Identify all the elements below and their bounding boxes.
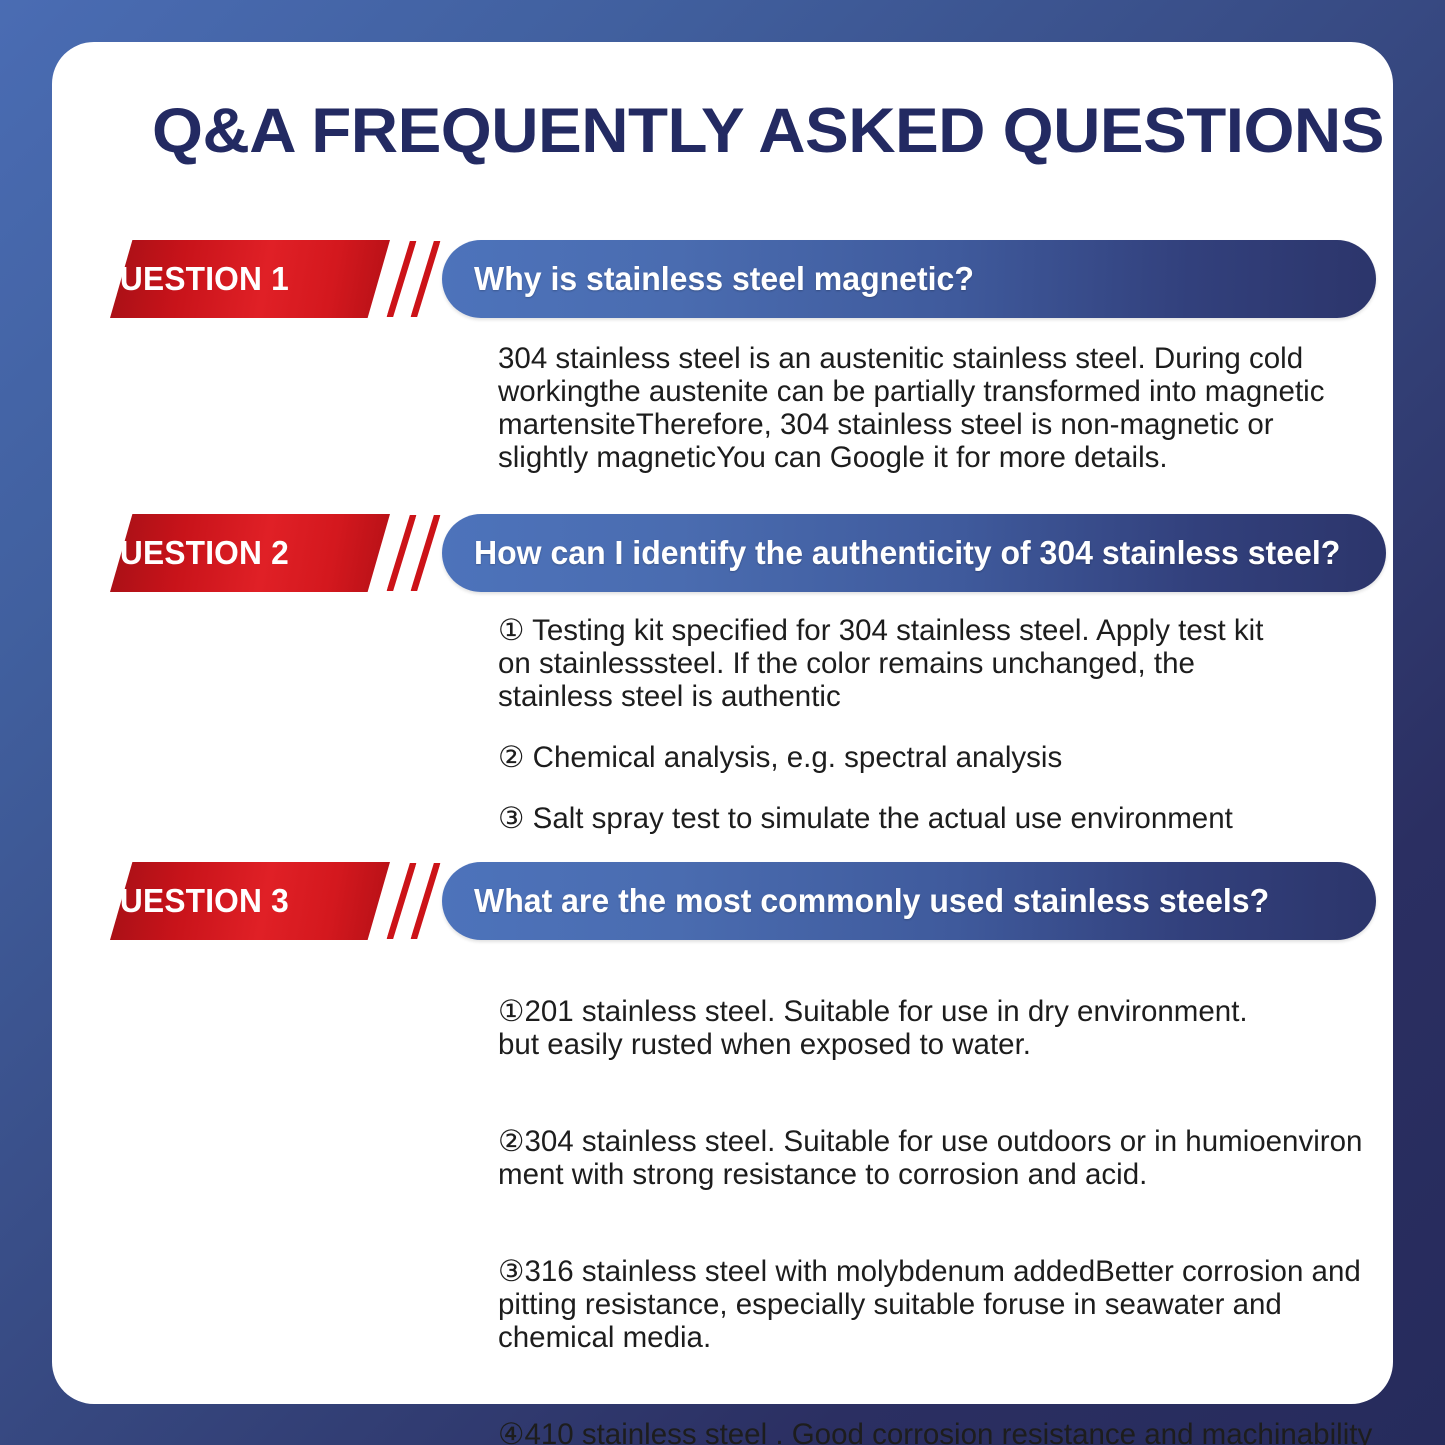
answer-paragraph: ①201 stainless steel. Suitable for use i…	[498, 995, 1378, 1061]
answer-2: ① Testing kit specified for 304 stainles…	[498, 614, 1298, 835]
question-text-2: How can I identify the authenticity of 3…	[474, 514, 1340, 592]
question-header-2: QUESTION 2 How can I identify the authen…	[52, 514, 1393, 592]
answer-paragraph: ② Chemical analysis, e.g. spectral analy…	[498, 741, 1298, 774]
faq-card: Q&A FREQUENTLY ASKED QUESTIONS QUESTION …	[52, 42, 1393, 1404]
answer-paragraph: ②304 stainless steel. Suitable for use o…	[498, 1125, 1378, 1191]
page-background: Q&A FREQUENTLY ASKED QUESTIONS QUESTION …	[0, 0, 1445, 1445]
question-header-1: QUESTION 1 Why is stainless steel magnet…	[52, 240, 1393, 318]
question-badge-label-2: QUESTION 2	[58, 514, 327, 592]
answer-paragraph: ③316 stainless steel with molybdenum add…	[498, 1255, 1378, 1354]
slash-icon	[411, 241, 441, 317]
page-title: Q&A FREQUENTLY ASKED QUESTIONS	[152, 100, 1379, 163]
slash-icon	[411, 863, 441, 939]
question-block-1: QUESTION 1 Why is stainless steel magnet…	[52, 240, 1393, 318]
answer-paragraph: ④410 stainless steel . Good corrosion re…	[498, 1418, 1378, 1445]
question-header-3: QUESTION 3 What are the most commonly us…	[52, 862, 1393, 940]
slash-icon	[387, 515, 417, 591]
answer-paragraph: 304 stainless steel is an austenitic sta…	[498, 342, 1352, 474]
question-text-3: What are the most commonly used stainles…	[474, 862, 1269, 940]
question-text-1: Why is stainless steel magnetic?	[474, 240, 974, 318]
question-badge-label-3: QUESTION 3	[58, 862, 327, 940]
slash-icon	[387, 863, 417, 939]
answer-1: 304 stainless steel is an austenitic sta…	[498, 342, 1352, 474]
answer-paragraph: ① Testing kit specified for 304 stainles…	[498, 614, 1298, 713]
answer-3: ①201 stainless steel. Suitable for use i…	[498, 962, 1378, 1445]
slash-icon	[411, 515, 441, 591]
question-block-3: QUESTION 3 What are the most commonly us…	[52, 862, 1393, 940]
question-badge-label-1: QUESTION 1	[58, 240, 327, 318]
answer-paragraph: ③ Salt spray test to simulate the actual…	[498, 802, 1298, 835]
question-block-2: QUESTION 2 How can I identify the authen…	[52, 514, 1393, 592]
slash-icon	[387, 241, 417, 317]
